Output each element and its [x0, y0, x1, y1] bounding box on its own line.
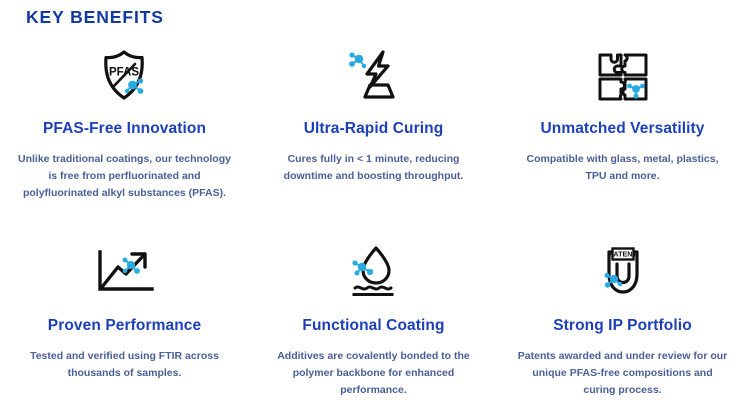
- water-droplet-coating-icon: [345, 243, 403, 299]
- benefit-description: Additives are covalently bonded to the p…: [267, 348, 480, 400]
- benefit-description: Tested and verified using FTIR across th…: [18, 348, 231, 383]
- benefit-description: Cures fully in < 1 minute, reducing down…: [267, 151, 480, 186]
- growth-chart-arrow-icon: [94, 243, 156, 299]
- section-title: KEY BENEFITS: [26, 7, 164, 28]
- benefit-title: Unmatched Versatility: [540, 120, 704, 139]
- benefit-card-proven-performance: Proven Performance Tested and verified u…: [0, 243, 249, 420]
- patent-shield-icon: PATENT: [595, 243, 651, 299]
- lightning-bolt-icon: [343, 48, 405, 104]
- svg-text:PATENT: PATENT: [609, 250, 637, 259]
- benefit-card-pfas-free-innovation: PFAS PFAS-Free Innovation Unlike traditi…: [0, 48, 249, 243]
- puzzle-pieces-icon: [595, 48, 651, 104]
- benefit-card-strong-ip-portfolio: PATENT Strong IP Portfolio Patents award…: [498, 243, 747, 420]
- pfas-free-shield-icon: PFAS: [96, 48, 154, 104]
- benefit-title: Strong IP Portfolio: [553, 317, 692, 336]
- benefit-description: Compatible with glass, metal, plastics, …: [516, 151, 729, 186]
- benefit-title: Proven Performance: [48, 317, 201, 336]
- benefit-title: PFAS-Free Innovation: [43, 120, 206, 139]
- benefit-card-ultra-rapid-curing: Ultra-Rapid Curing Cures fully in < 1 mi…: [249, 48, 498, 243]
- benefit-description: Unlike traditional coatings, our technol…: [18, 151, 231, 203]
- benefit-card-functional-coating: Functional Coating Additives are covalen…: [249, 243, 498, 420]
- benefit-title: Functional Coating: [302, 317, 444, 336]
- benefits-grid: PFAS PFAS-Free Innovation Unlike traditi…: [0, 48, 747, 420]
- benefit-card-unmatched-versatility: Unmatched Versatility Compatible with gl…: [498, 48, 747, 243]
- benefit-description: Patents awarded and under review for our…: [516, 348, 729, 400]
- benefit-title: Ultra-Rapid Curing: [304, 120, 444, 139]
- key-benefits-page: KEY BENEFITS PFAS: [0, 0, 747, 420]
